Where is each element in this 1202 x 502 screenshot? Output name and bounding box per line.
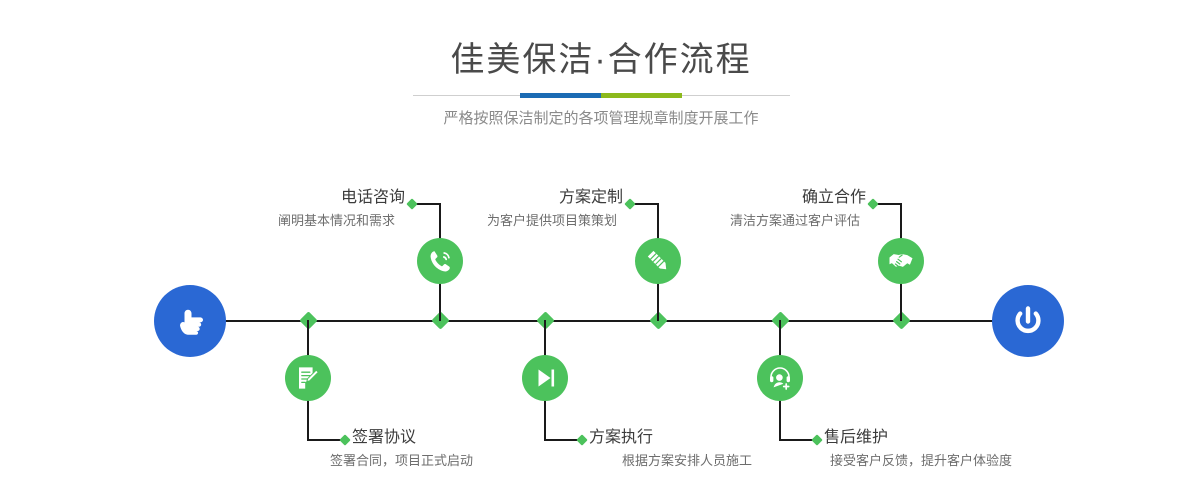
step-title-plan-execution: 方案执行 xyxy=(589,428,653,448)
step-desc-plan-customization: 为客户提供项目策策划 xyxy=(395,212,617,230)
step-title-sign-agreement: 签署协议 xyxy=(352,428,416,448)
step-icon-phone-consultation xyxy=(417,238,463,284)
connector-horizontal xyxy=(307,439,343,441)
step-title-after-sales-maintenance: 售后维护 xyxy=(824,428,888,448)
title-divider xyxy=(413,95,790,96)
timeline-start-endpoint xyxy=(154,285,226,357)
step-title-plan-customization: 方案定制 xyxy=(395,188,623,208)
divider-blue-segment xyxy=(520,93,601,98)
label-bullet-diamond xyxy=(624,198,635,209)
step-icon-plan-customization xyxy=(635,238,681,284)
page-subtitle: 严格按照保洁制定的各项管理规章制度开展工作 xyxy=(0,108,1202,130)
page-title: 佳美保洁·合作流程 xyxy=(0,38,1202,82)
customer-support-icon xyxy=(766,364,794,392)
pointing-hand-icon xyxy=(170,301,210,341)
phone-call-icon xyxy=(425,246,455,276)
process-flow-infographic: 佳美保洁·合作流程 严格按照保洁制定的各项管理规章制度开展工作 xyxy=(0,0,1202,502)
connector-horizontal xyxy=(544,439,580,441)
divider-green-segment xyxy=(601,93,682,98)
handshake-icon xyxy=(886,246,916,276)
connector-horizontal xyxy=(877,203,902,205)
step-desc-after-sales-maintenance: 接受客户反馈，提升客户体验度 xyxy=(830,452,1012,470)
label-bullet-diamond xyxy=(811,434,822,445)
step-title-establish-cooperation: 确立合作 xyxy=(640,188,866,208)
step-title-phone-consultation: 电话咨询 xyxy=(175,188,405,208)
document-edit-icon xyxy=(294,364,322,392)
step-desc-sign-agreement: 签署合同，项目正式启动 xyxy=(330,452,473,470)
step-desc-plan-execution: 根据方案安排人员施工 xyxy=(622,452,752,470)
step-icon-after-sales-maintenance xyxy=(757,355,803,401)
connector-horizontal xyxy=(779,439,815,441)
step-desc-phone-consultation: 阐明基本情况和需求 xyxy=(175,212,395,230)
label-bullet-diamond xyxy=(576,434,587,445)
step-desc-establish-cooperation: 清洁方案通过客户评估 xyxy=(640,212,860,230)
play-skip-icon xyxy=(531,364,559,392)
step-icon-plan-execution xyxy=(522,355,568,401)
label-bullet-diamond xyxy=(867,198,878,209)
step-icon-sign-agreement xyxy=(285,355,331,401)
pencil-edit-icon xyxy=(643,246,673,276)
power-icon xyxy=(1008,301,1048,341)
label-bullet-diamond xyxy=(339,434,350,445)
timeline-end-endpoint xyxy=(992,285,1064,357)
step-icon-establish-cooperation xyxy=(878,238,924,284)
